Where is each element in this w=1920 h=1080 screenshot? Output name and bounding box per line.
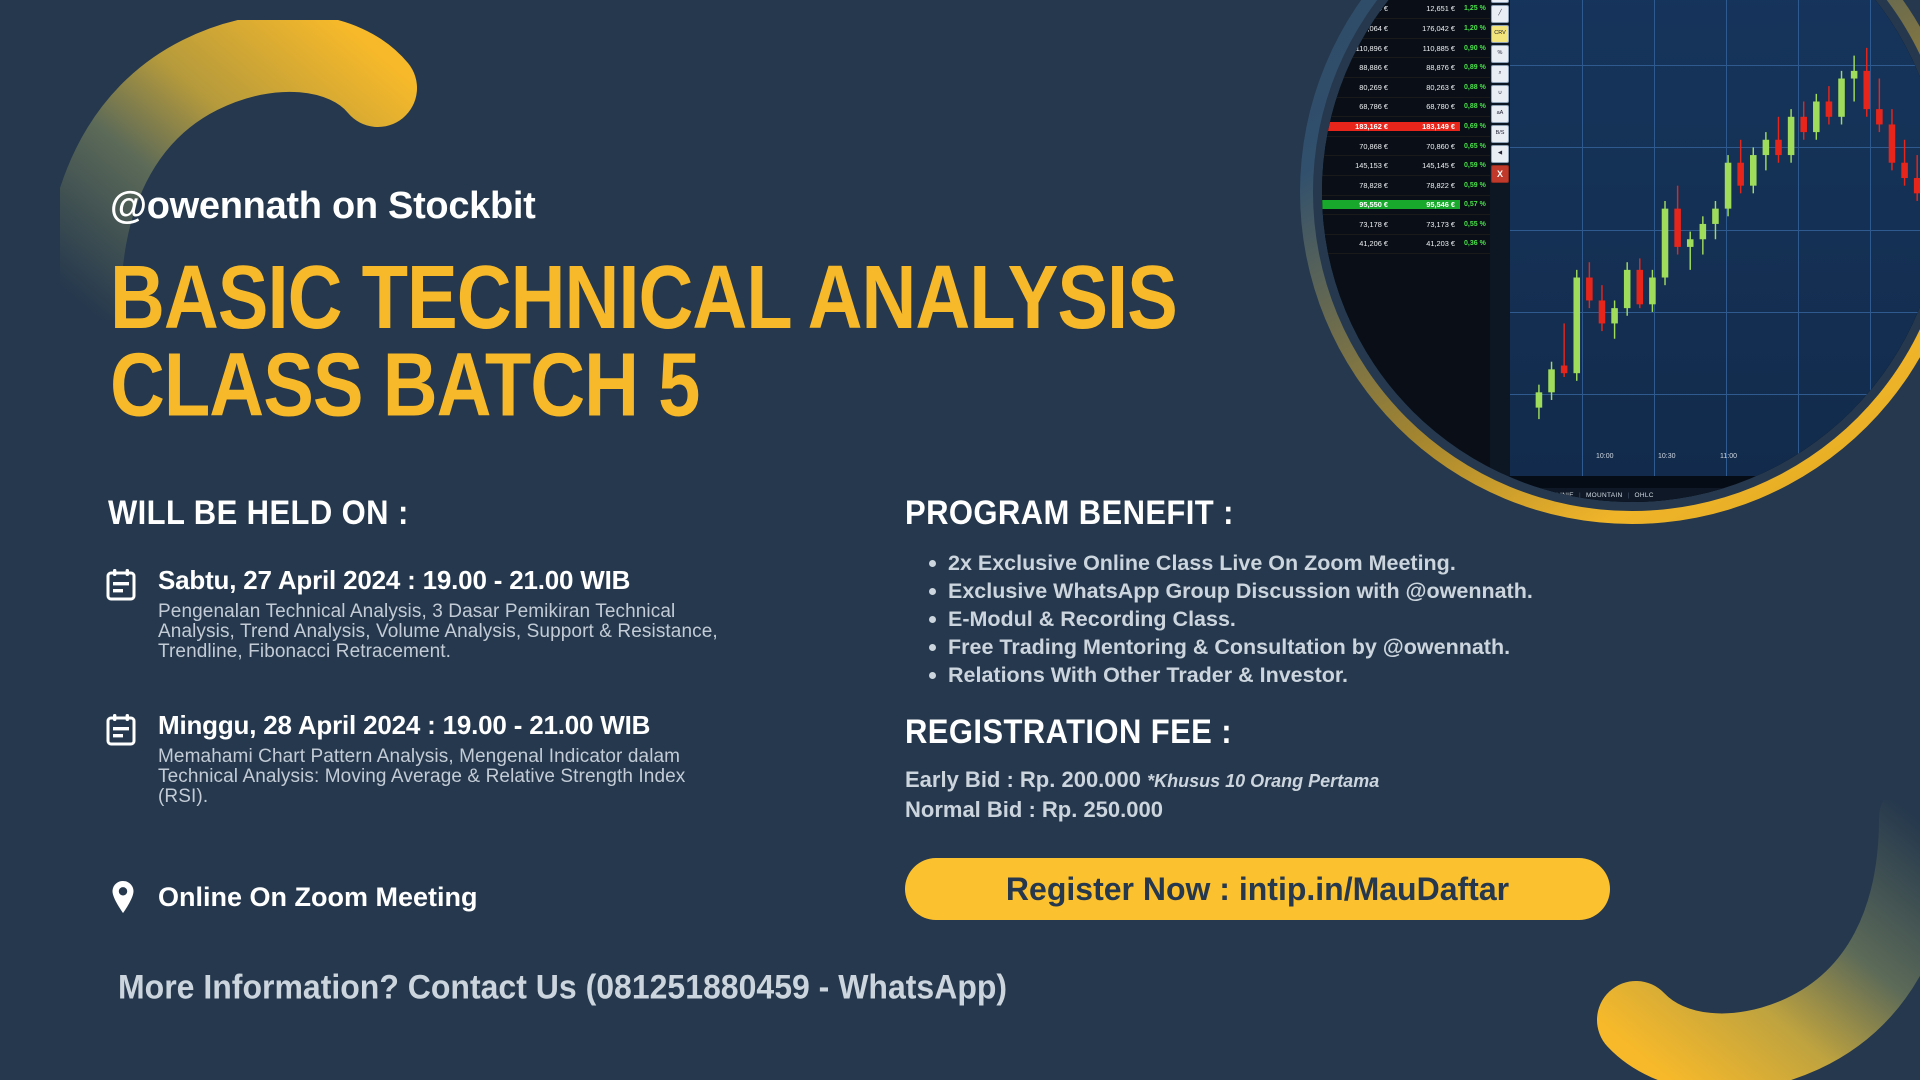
quote-ask: 68,780 €	[1393, 102, 1460, 111]
chart-tool-palette[interactable]: ➤╱CRV%⌕∪aAB/S◀X	[1490, 0, 1510, 476]
quote-ask: 41,203 €	[1393, 239, 1460, 248]
quote-row[interactable]: 88,886 €88,876 €0,89 %	[1322, 58, 1492, 78]
candlestick-plot: LS - DAX (848900)5 Min10:0010:3011:00	[1510, 0, 1920, 476]
registration-fee-lines: Early Bid : Rp. 200.000 *Khusus 10 Orang…	[905, 765, 1379, 824]
tool-arc-icon[interactable]: ∪	[1491, 85, 1509, 103]
x-axis-tick: 10:00	[1596, 453, 1614, 460]
tool-line-icon[interactable]: ╱	[1491, 5, 1509, 23]
quote-ask: 95,546 €	[1393, 200, 1460, 209]
contact-info: More Information? Contact Us (0812518804…	[118, 968, 1007, 1007]
tool-buy-sell-icon[interactable]: B/S	[1491, 125, 1509, 143]
quote-bid: 88,886 €	[1322, 63, 1393, 72]
quote-change: 0,57 %	[1460, 201, 1492, 208]
chart-type-ohlc[interactable]: OHLC	[1635, 492, 1654, 499]
quote-change: 0,88 %	[1460, 103, 1492, 110]
quote-row[interactable]: 12,654 €12,651 €1,25 %	[1322, 0, 1492, 19]
account-handle: @owennath on Stockbit	[110, 185, 536, 228]
quote-change: 0,89 %	[1460, 64, 1492, 71]
quote-bid: 110,896 €	[1322, 44, 1393, 53]
quote-row[interactable]: 73,178 €73,173 €0,55 %	[1322, 215, 1492, 235]
x-axis-tick: 10:30	[1658, 453, 1676, 460]
schedule-heading: WILL BE HELD ON :	[108, 493, 409, 533]
chart-type-candle[interactable]: CANDLE	[1516, 492, 1544, 499]
location-row: Online On Zoom Meeting	[106, 880, 478, 914]
quote-row[interactable]: 176,064 €176,042 €1,20 %	[1322, 19, 1492, 39]
quote-row[interactable]: 110,896 €110,885 €0,90 %	[1322, 39, 1492, 59]
quote-bid: 68,786 €	[1322, 102, 1393, 111]
quote-ask: 70,860 €	[1393, 142, 1460, 151]
separator: |	[1628, 492, 1630, 499]
quote-bid: 12,654 €	[1322, 4, 1393, 13]
tool-crv-icon[interactable]: CRV	[1491, 25, 1509, 43]
quote-row[interactable]: 68,786 €68,780 €0,88 %	[1322, 98, 1492, 118]
chart-type-mountain[interactable]: MOUNTAIN	[1586, 492, 1623, 499]
quote-row[interactable]: 80,269 €80,263 €0,88 %	[1322, 78, 1492, 98]
quote-bid: 70,868 €	[1322, 142, 1393, 151]
early-bid-note: *Khusus 10 Orang Pertama	[1147, 771, 1379, 791]
session-item: Sabtu, 27 April 2024 : 19.00 - 21.00 WIB…	[106, 565, 726, 662]
quote-row[interactable]: 183,162 €183,149 €0,69 %	[1322, 117, 1492, 137]
quote-bid: 78,828 €	[1322, 181, 1393, 190]
quote-row[interactable]: 95,550 €95,546 €0,57 %	[1322, 196, 1492, 216]
title-line-2: CLASS BATCH 5	[110, 343, 1177, 431]
quote-change: 0,69 %	[1460, 123, 1492, 130]
early-bid-row: Early Bid : Rp. 200.000 *Khusus 10 Orang…	[905, 765, 1379, 795]
quote-bid: 176,064 €	[1322, 24, 1393, 33]
quote-row[interactable]: 70,868 €70,860 €0,65 %	[1322, 137, 1492, 157]
calendar-icon	[106, 565, 140, 662]
session-item: Minggu, 28 April 2024 : 19.00 - 21.00 WI…	[106, 710, 726, 807]
benefit-item: Exclusive WhatsApp Group Discussion with…	[948, 578, 1648, 606]
quote-change: 0,65 %	[1460, 143, 1492, 150]
quote-ask: 73,173 €	[1393, 220, 1460, 229]
tool-x-icon[interactable]: X	[1491, 165, 1509, 183]
session-title: Minggu, 28 April 2024 : 19.00 - 21.00 WI…	[158, 710, 726, 741]
program-benefit-heading: PROGRAM BENEFIT :	[905, 493, 1234, 533]
benefit-item: 2x Exclusive Online Class Live On Zoom M…	[948, 550, 1648, 578]
session-description: Pengenalan Technical Analysis, 3 Dasar P…	[158, 602, 726, 662]
tool-sound-icon[interactable]: ◀	[1491, 145, 1509, 163]
normal-bid-price: Normal Bid : Rp. 250.000	[905, 795, 1379, 825]
quote-ask: 80,263 €	[1393, 83, 1460, 92]
quote-change: 0,36 %	[1460, 240, 1492, 247]
session-title: Sabtu, 27 April 2024 : 19.00 - 21.00 WIB	[158, 565, 726, 596]
benefit-list: 2x Exclusive Online Class Live On Zoom M…	[920, 550, 1648, 690]
tool-aa-icon[interactable]: aA	[1491, 105, 1509, 123]
benefit-item: Relations With Other Trader & Investor.	[948, 662, 1648, 690]
tool-search-icon[interactable]: ⌕	[1491, 65, 1509, 83]
decorative-swoosh-bottom-right	[1540, 800, 1920, 1080]
poster-canvas: 7,757 €17,754 €2,92 %30,866 €30,864 €1,7…	[0, 0, 1920, 1080]
quote-ask: 110,885 €	[1393, 44, 1460, 53]
quote-bid: 73,178 €	[1322, 220, 1393, 229]
calendar-icon	[106, 710, 140, 807]
x-axis-tick: 11:00	[1720, 453, 1737, 460]
quote-bid: 41,206 €	[1322, 239, 1393, 248]
quote-change: 0,90 %	[1460, 45, 1492, 52]
quote-ask: 12,651 €	[1393, 4, 1460, 13]
trading-terminal-photo: 7,757 €17,754 €2,92 %30,866 €30,864 €1,7…	[1322, 0, 1920, 502]
location-label: Online On Zoom Meeting	[158, 882, 478, 913]
quote-ask: 78,822 €	[1393, 181, 1460, 190]
quote-bid: 80,269 €	[1322, 83, 1393, 92]
trading-terminal-screen: 7,757 €17,754 €2,92 %30,866 €30,864 €1,7…	[1322, 0, 1920, 502]
quote-ask: 145,145 €	[1393, 161, 1460, 170]
quote-bid: 95,550 €	[1322, 200, 1393, 209]
quote-change: 1,25 %	[1460, 5, 1492, 12]
chart-type-linie[interactable]: LINIE	[1556, 492, 1574, 499]
quote-bid: 145,153 €	[1322, 161, 1393, 170]
page-title: BASIC TECHNICAL ANALYSIS CLASS BATCH 5	[110, 255, 1177, 431]
quote-change: 0,59 %	[1460, 162, 1492, 169]
quote-change: 0,88 %	[1460, 84, 1492, 91]
quote-change: 0,59 %	[1460, 182, 1492, 189]
title-line-1: BASIC TECHNICAL ANALYSIS	[110, 248, 1177, 348]
registration-fee-heading: REGISTRATION FEE :	[905, 712, 1232, 752]
map-pin-icon	[106, 880, 140, 914]
session-description: Memahami Chart Pattern Analysis, Mengena…	[158, 747, 726, 807]
tool---icon[interactable]: %	[1491, 45, 1509, 63]
chart-type-bar[interactable]: CANDLE|LINIE|MOUNTAIN|OHLC	[1510, 488, 1920, 502]
benefit-item: Free Trading Mentoring & Consultation by…	[948, 634, 1648, 662]
quote-ask: 88,876 €	[1393, 63, 1460, 72]
tool-cursor-icon[interactable]: ➤	[1491, 0, 1509, 3]
early-bid-price: Early Bid : Rp. 200.000	[905, 767, 1141, 792]
quote-change: 1,20 %	[1460, 25, 1492, 32]
quote-ask: 183,149 €	[1393, 122, 1460, 131]
benefit-item: E-Modul & Recording Class.	[948, 606, 1648, 634]
quote-row[interactable]: 145,153 €145,145 €0,59 %	[1322, 156, 1492, 176]
separator: |	[1549, 492, 1551, 499]
separator: |	[1579, 492, 1581, 499]
quote-row[interactable]: 78,828 €78,822 €0,59 %	[1322, 176, 1492, 196]
quote-ask: 176,042 €	[1393, 24, 1460, 33]
quote-bid: 183,162 €	[1322, 122, 1393, 131]
register-button[interactable]: Register Now : intip.in/MauDaftar	[905, 858, 1610, 920]
quote-change: 0,55 %	[1460, 221, 1492, 228]
quote-table: 7,757 €17,754 €2,92 %30,866 €30,864 €1,7…	[1322, 0, 1492, 502]
quote-row[interactable]: 41,206 €41,203 €0,36 %	[1322, 235, 1492, 255]
